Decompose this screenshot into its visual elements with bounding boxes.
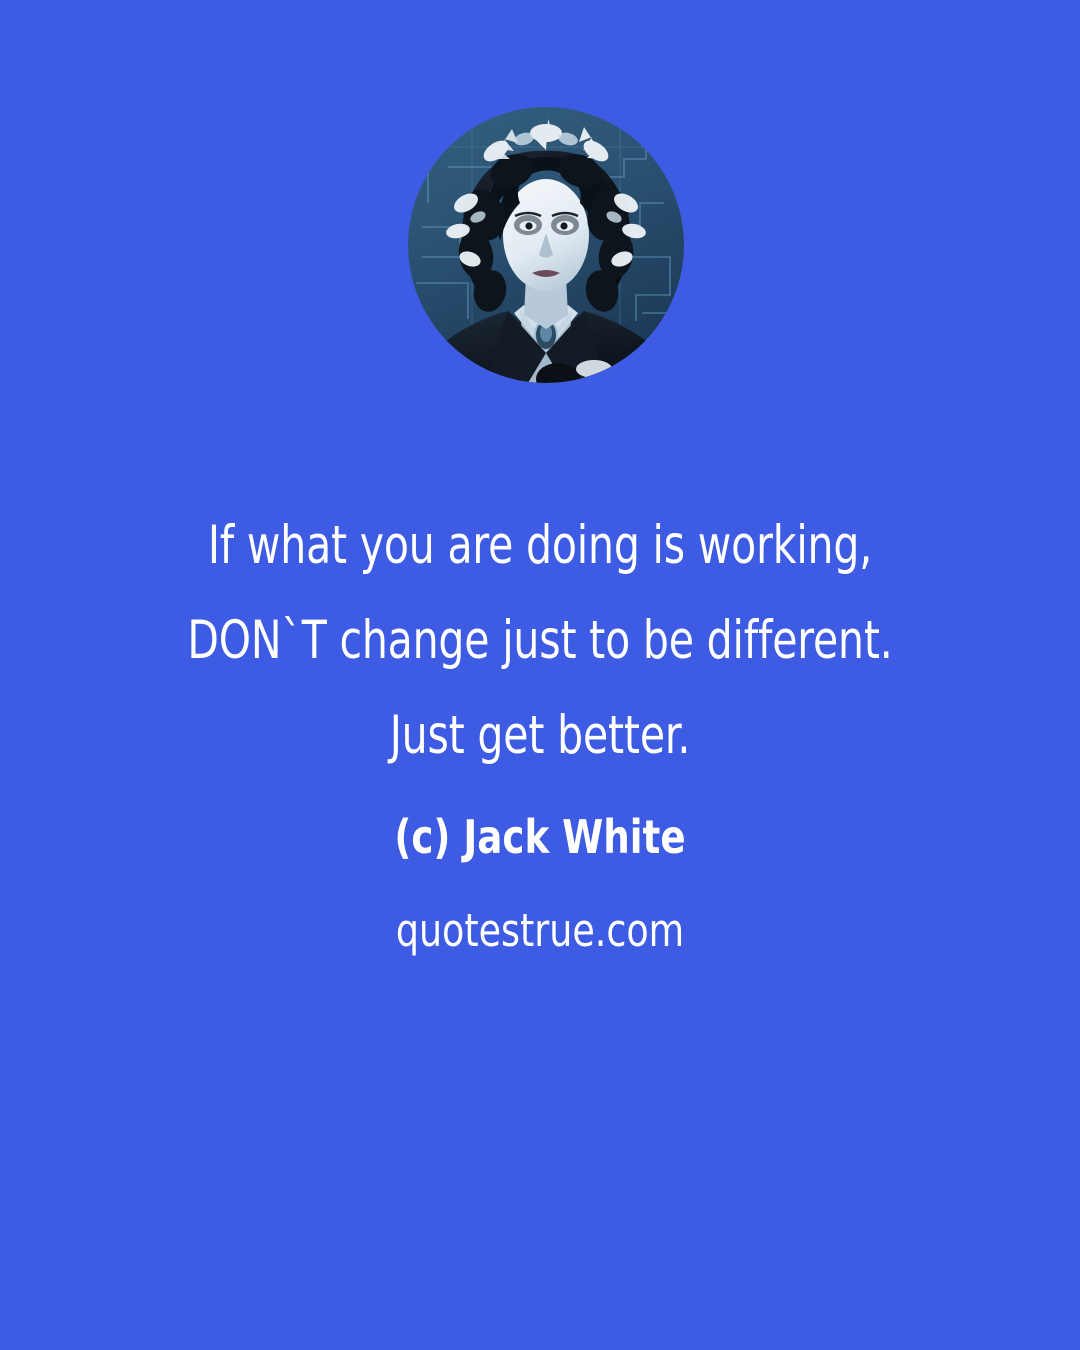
portrait-avatar xyxy=(408,107,684,383)
quote-line-1: If what you are doing is working, xyxy=(76,498,1005,593)
site-watermark: quotestrue.com xyxy=(54,903,1026,959)
jack-white-portrait-icon xyxy=(408,107,684,383)
quote-attribution: (c) Jack White xyxy=(54,808,1026,866)
quote-line-2: DON`T change just to be different. xyxy=(76,593,1005,688)
quote-line-3: Just get better. xyxy=(76,688,1005,783)
quote-text: If what you are doing is working, DON`T … xyxy=(0,498,1080,783)
quote-card: If what you are doing is working, DON`T … xyxy=(0,0,1080,1350)
